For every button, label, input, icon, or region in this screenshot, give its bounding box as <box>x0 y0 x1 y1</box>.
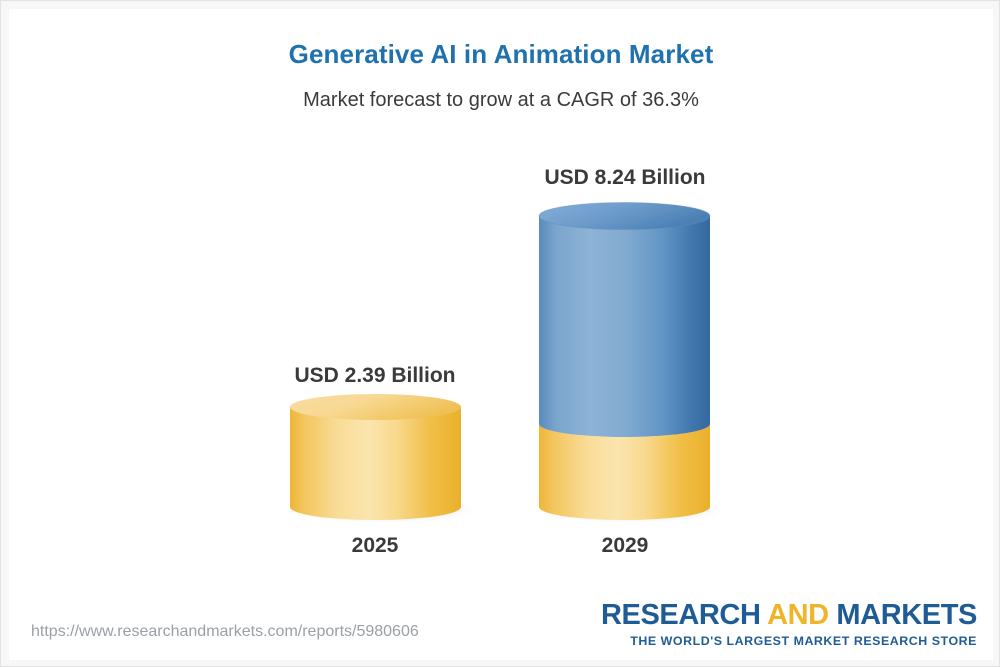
research-and-markets-logo[interactable]: RESEARCH AND MARKETS THE WORLD'S LARGEST… <box>601 601 977 648</box>
logo-word-markets: MARKETS <box>836 599 977 631</box>
bar-2029-growth-segment <box>539 216 710 437</box>
logo-wordmark: RESEARCH AND MARKETS <box>601 601 977 630</box>
cylinder-chart-plot <box>1 1 1000 667</box>
bar-2025-body <box>290 407 461 520</box>
logo-word-research: RESEARCH <box>601 599 761 631</box>
value-label-2025: USD 2.39 Billion <box>255 364 495 388</box>
category-label-2025: 2025 <box>255 534 495 558</box>
bar-2029 <box>535 203 725 524</box>
logo-tagline: THE WORLD'S LARGEST MARKET RESEARCH STOR… <box>601 634 977 648</box>
chart-content: Generative AI in Animation Market Market… <box>1 1 999 666</box>
logo-word-and: AND <box>767 599 829 631</box>
bar-2025 <box>286 394 476 523</box>
bar-2029-base-segment <box>539 424 710 520</box>
bar-2025-top-cap <box>290 394 461 420</box>
source-url[interactable]: https://www.researchandmarkets.com/repor… <box>31 623 419 641</box>
value-label-2029: USD 8.24 Billion <box>505 166 745 190</box>
chart-card: Generative AI in Animation Market Market… <box>0 0 1000 667</box>
category-label-2029: 2029 <box>505 534 745 558</box>
